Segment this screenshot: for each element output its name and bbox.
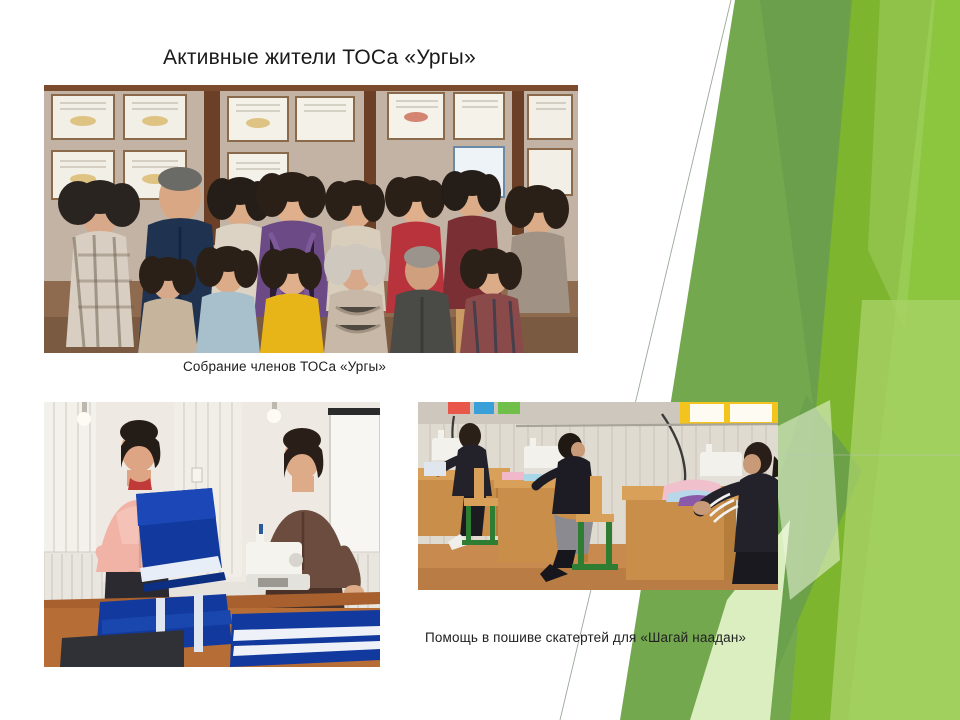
page-title: Активные жители ТОСа «Ургы» bbox=[163, 45, 476, 71]
facet-shape-highlight bbox=[868, 0, 935, 330]
facet-shape-pale bbox=[830, 300, 960, 720]
caption-sewing-workshop: Помощь в пошиве скатертей для «Шагай наа… bbox=[425, 629, 746, 647]
presentation-slide: Активные жители ТОСа «Ургы» bbox=[0, 0, 960, 720]
photo-sewing-workshop bbox=[418, 402, 778, 590]
group-photo-tos-meeting bbox=[44, 85, 578, 353]
facet-shape-dark-upper bbox=[760, 0, 852, 420]
group-photo-artwork bbox=[44, 85, 578, 353]
facet-shape-medium bbox=[620, 0, 850, 720]
facet-shape-bright bbox=[700, 0, 932, 720]
photo-folded-tablecloths bbox=[44, 402, 380, 667]
facet-shape-mint bbox=[770, 400, 840, 600]
facet-shape-light-right bbox=[845, 0, 960, 720]
hairline-diagonal-upper bbox=[560, 0, 731, 720]
caption-group-photo: Собрание членов ТОСа «Ургы» bbox=[183, 358, 386, 376]
tablecloths-artwork bbox=[44, 402, 380, 667]
sewing-workshop-artwork bbox=[418, 402, 778, 590]
